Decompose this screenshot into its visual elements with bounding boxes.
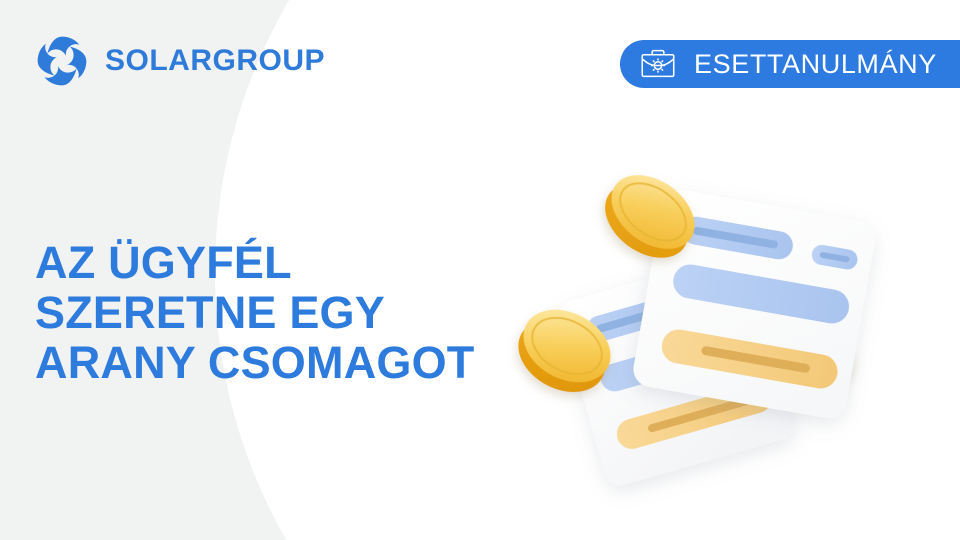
case-study-badge[interactable]: ESETTANULMÁNY [620,40,960,88]
briefcase-gear-icon [640,48,676,80]
headline-line-3: ARANY CSOMAGOT [35,338,505,388]
slide-canvas: SOLARGROUP ESETTANULMÁNY AZ ÜGYFÉL SZERE… [0,0,960,540]
headline-line-1: AZ ÜGYFÉL [35,238,505,288]
headline-line-2: SZERETNE EGY [35,288,505,338]
page-title: AZ ÜGYFÉL SZERETNE EGY ARANY CSOMAGOT [35,238,505,388]
brand-logo[interactable]: SOLARGROUP [33,32,325,90]
documents-and-coins-illustration [505,140,905,440]
brand-wordmark: SOLARGROUP [105,46,325,76]
solar-swirl-icon [33,32,91,90]
case-study-badge-label: ESETTANULMÁNY [694,51,937,78]
